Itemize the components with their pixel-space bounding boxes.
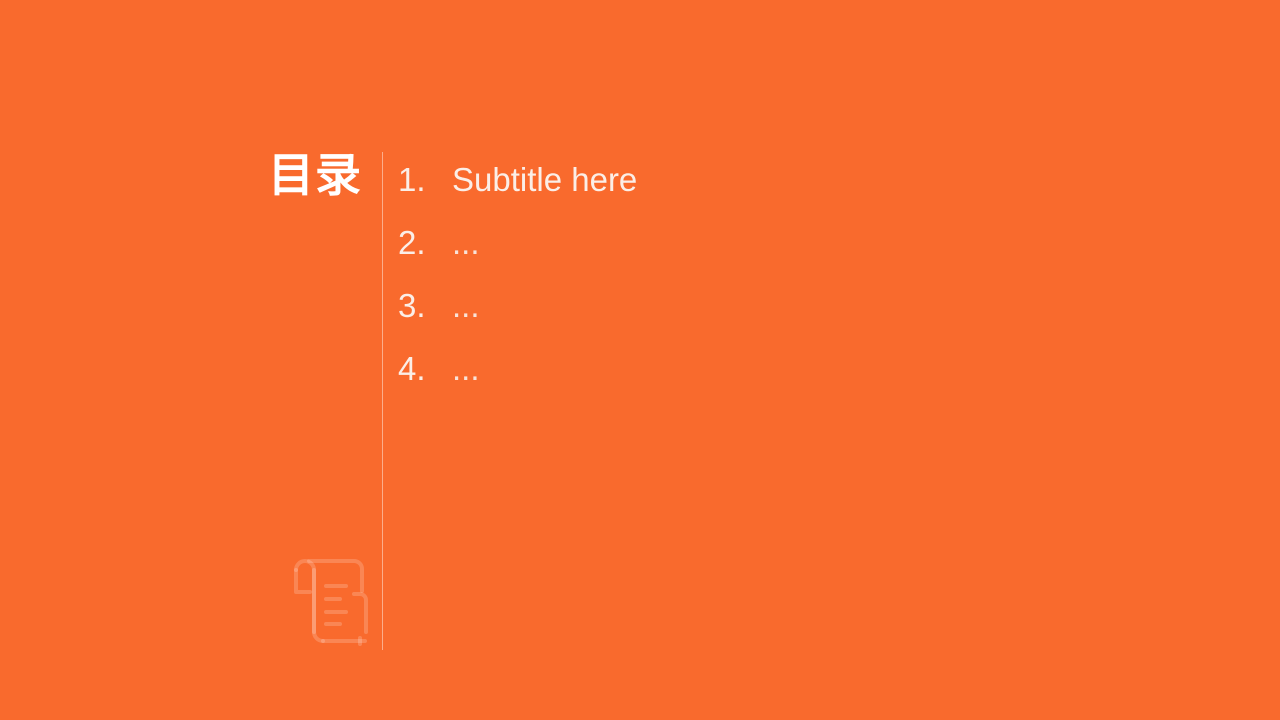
list-item-number: 4. [398,349,452,389]
toc-list: 1. Subtitle here 2. ... 3. ... 4. ... [398,160,1218,412]
list-item[interactable]: 3. ... [398,286,1218,349]
list-item[interactable]: 4. ... [398,349,1218,412]
list-item[interactable]: 1. Subtitle here [398,160,1218,223]
toc-left-column: 目录 [150,152,362,650]
vertical-divider [382,152,383,650]
slide-canvas: 目录 [0,0,1280,720]
list-item-number: 1. [398,160,452,200]
list-item-label: ... [452,223,480,263]
list-item-number: 3. [398,286,452,326]
list-item-label: ... [452,286,480,326]
scroll-document-icon [276,546,372,650]
list-item-number: 2. [398,223,452,263]
page-title: 目录 [268,152,362,198]
list-item-label: Subtitle here [452,160,637,200]
list-item-label: ... [452,349,480,389]
list-item[interactable]: 2. ... [398,223,1218,286]
